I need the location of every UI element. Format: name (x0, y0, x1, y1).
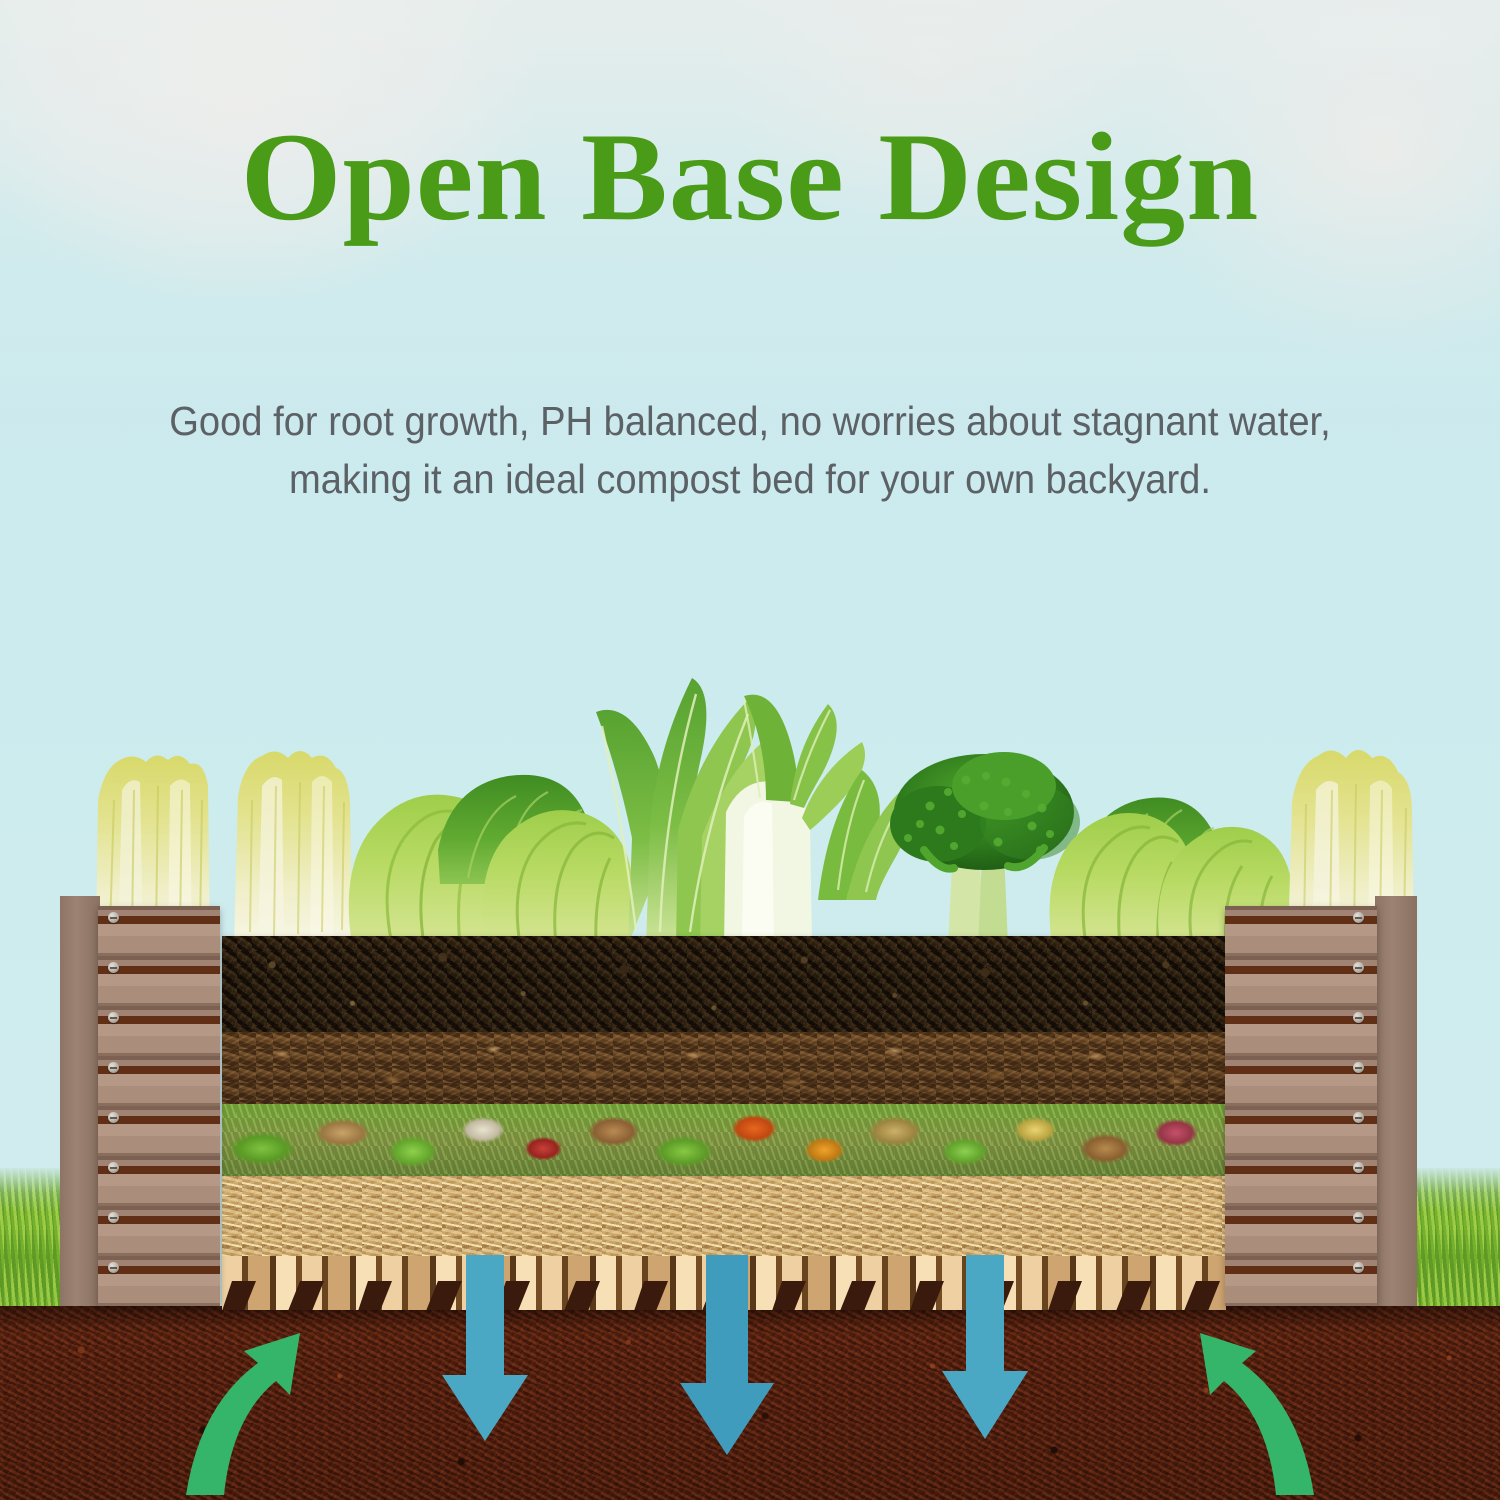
compost-layer-kitchen-scraps (222, 1104, 1226, 1176)
panel-right-screws (1225, 906, 1377, 1306)
wood-log-wedges (222, 1281, 1226, 1310)
compost-layer-wood-logs (222, 1256, 1226, 1310)
compost-layer-straw (222, 1176, 1226, 1256)
page-title: Open Base Design (0, 112, 1500, 244)
subtitle-line-1: Good for root growth, PH balanced, no wo… (99, 392, 1401, 450)
screw-icon (1353, 1262, 1364, 1273)
screw-icon (108, 1012, 119, 1023)
compost-cross-section (222, 936, 1226, 1310)
screw-icon (108, 962, 119, 973)
screw-icon (1353, 1212, 1364, 1223)
vegetable-row (0, 600, 1500, 945)
subtitle-line-2: making it an ideal compost bed for your … (99, 450, 1401, 508)
screw-icon (1353, 962, 1364, 973)
screw-icon (108, 1262, 119, 1273)
page-subtitle: Good for root growth, PH balanced, no wo… (99, 392, 1401, 508)
screw-icon (1353, 1112, 1364, 1123)
screw-icon (108, 1162, 119, 1173)
metal-slat-panel-right (1225, 906, 1415, 1306)
compost-layer-mulch (222, 1032, 1226, 1104)
screw-icon (1353, 1012, 1364, 1023)
garden-ground-soil (0, 1306, 1500, 1500)
screw-icon (1353, 912, 1364, 923)
product-infographic-poster: Open Base Design Good for root growth, P… (0, 0, 1500, 1500)
screw-icon (108, 1062, 119, 1073)
panel-left-screws (98, 906, 220, 1306)
metal-slat-panel-left (60, 906, 220, 1306)
screw-icon (108, 912, 119, 923)
panel-right-side-edge (1375, 896, 1417, 1306)
screw-icon (1353, 1162, 1364, 1173)
screw-icon (108, 1112, 119, 1123)
screw-icon (108, 1212, 119, 1223)
screw-icon (1353, 1062, 1364, 1073)
plant-napa-cabbage-2 (234, 751, 352, 945)
panel-left-face (98, 906, 220, 1306)
panel-left-side-edge (60, 896, 100, 1306)
panel-right-face (1225, 906, 1377, 1306)
compost-layer-topsoil (222, 936, 1226, 1032)
